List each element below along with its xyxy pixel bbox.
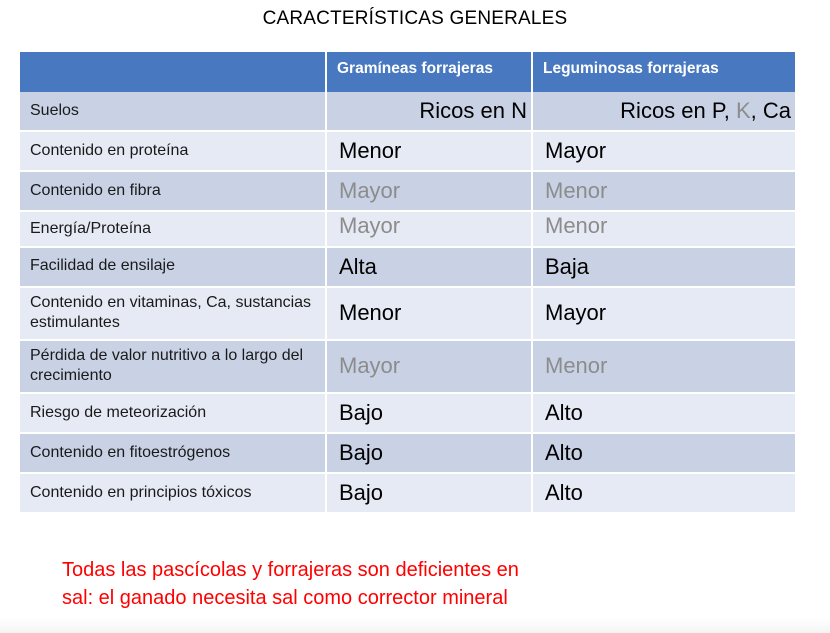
cell-gramineas-riesgo-meteorizacion: Bajo xyxy=(327,394,533,434)
cell-gramineas-facilidad-ensilaje: Alta xyxy=(327,248,533,288)
column-header-gramineas: Gramíneas forrajeras xyxy=(327,52,533,92)
table-row: Contenido en principios tóxicos Bajo Alt… xyxy=(20,474,795,514)
table-row: Riesgo de meteorización Bajo Alto xyxy=(20,394,795,434)
cell-leguminosas-perdida-valor-nutritivo: Menor xyxy=(533,341,795,394)
row-label-contenido-proteina: Contenido en proteína xyxy=(20,132,327,172)
table-row: Suelos Ricos en N Ricos en P, K, Ca xyxy=(20,92,795,132)
cell-leguminosas-contenido-proteina: Mayor xyxy=(533,132,795,172)
footer-note-line-2: sal: el ganado necesita sal como correct… xyxy=(62,584,762,612)
cell-leguminosas-riesgo-meteorizacion: Alto xyxy=(533,394,795,434)
table-row: Facilidad de ensilaje Alta Baja xyxy=(20,248,795,288)
row-label-facilidad-ensilaje: Facilidad de ensilaje xyxy=(20,248,327,288)
table-row: Pérdida de valor nutritivo a lo largo de… xyxy=(20,341,795,394)
column-header-leguminosas: Leguminosas forrajeras xyxy=(533,52,795,92)
cell-gramineas-contenido-fibra: Mayor xyxy=(327,172,533,212)
table-row: Contenido en proteína Menor Mayor xyxy=(20,132,795,172)
footer-note: Todas las pascícolas y forrajeras son de… xyxy=(62,556,762,613)
cell-text-post: , Ca xyxy=(751,98,791,123)
row-label-contenido-fitoestrogenos: Contenido en fitoestrógenos xyxy=(20,434,327,474)
table-row: Energía/Proteína Mayor Menor xyxy=(20,212,795,247)
row-label-riesgo-meteorizacion: Riesgo de meteorización xyxy=(20,394,327,434)
cell-leguminosas-facilidad-ensilaje: Baja xyxy=(533,248,795,288)
comparison-table: Gramíneas forrajeras Leguminosas forraje… xyxy=(20,52,795,514)
cell-text-potassium: K xyxy=(736,98,751,123)
comparison-table-container: Gramíneas forrajeras Leguminosas forraje… xyxy=(20,52,795,514)
table-row: Contenido en fibra Mayor Menor xyxy=(20,172,795,212)
cell-gramineas-contenido-fitoestrogenos: Bajo xyxy=(327,434,533,474)
row-label-contenido-fibra: Contenido en fibra xyxy=(20,172,327,212)
column-header-blank xyxy=(20,52,327,92)
row-label-perdida-valor-nutritivo: Pérdida de valor nutritivo a lo largo de… xyxy=(20,341,327,394)
cell-gramineas-suelos: Ricos en N xyxy=(327,92,533,132)
cell-leguminosas-contenido-vitaminas: Mayor xyxy=(533,288,795,341)
cell-leguminosas-energia-proteina: Menor xyxy=(533,212,795,247)
cell-leguminosas-contenido-fitoestrogenos: Alto xyxy=(533,434,795,474)
cell-leguminosas-contenido-principios-toxicos: Alto xyxy=(533,474,795,514)
table-row: Contenido en vitaminas, Ca, sustancias e… xyxy=(20,288,795,341)
table-row: Contenido en fitoestrógenos Bajo Alto xyxy=(20,434,795,474)
footer-note-line-1: Todas las pascícolas y forrajeras son de… xyxy=(62,556,762,584)
cell-gramineas-contenido-principios-toxicos: Bajo xyxy=(327,474,533,514)
bottom-edge-band xyxy=(0,617,830,633)
cell-text-pre: Ricos en P, xyxy=(620,98,736,123)
row-label-contenido-vitaminas: Contenido en vitaminas, Ca, sustancias e… xyxy=(20,288,327,341)
table-header: Gramíneas forrajeras Leguminosas forraje… xyxy=(20,52,795,92)
page-title: CARACTERÍSTICAS GENERALES xyxy=(0,8,830,30)
cell-gramineas-contenido-vitaminas: Menor xyxy=(327,288,533,341)
cell-gramineas-energia-proteina: Mayor xyxy=(327,212,533,247)
cell-leguminosas-contenido-fibra: Menor xyxy=(533,172,795,212)
row-label-contenido-principios-toxicos: Contenido en principios tóxicos xyxy=(20,474,327,514)
cell-leguminosas-suelos: Ricos en P, K, Ca xyxy=(533,92,795,132)
cell-gramineas-contenido-proteina: Menor xyxy=(327,132,533,172)
row-label-suelos: Suelos xyxy=(20,92,327,132)
cell-gramineas-perdida-valor-nutritivo: Mayor xyxy=(327,341,533,394)
row-label-energia-proteina: Energía/Proteína xyxy=(20,212,327,247)
table-body: Suelos Ricos en N Ricos en P, K, Ca Cont… xyxy=(20,92,795,514)
slide-canvas: CARACTERÍSTICAS GENERALES Gramíneas forr… xyxy=(0,0,830,633)
table-header-row: Gramíneas forrajeras Leguminosas forraje… xyxy=(20,52,795,92)
